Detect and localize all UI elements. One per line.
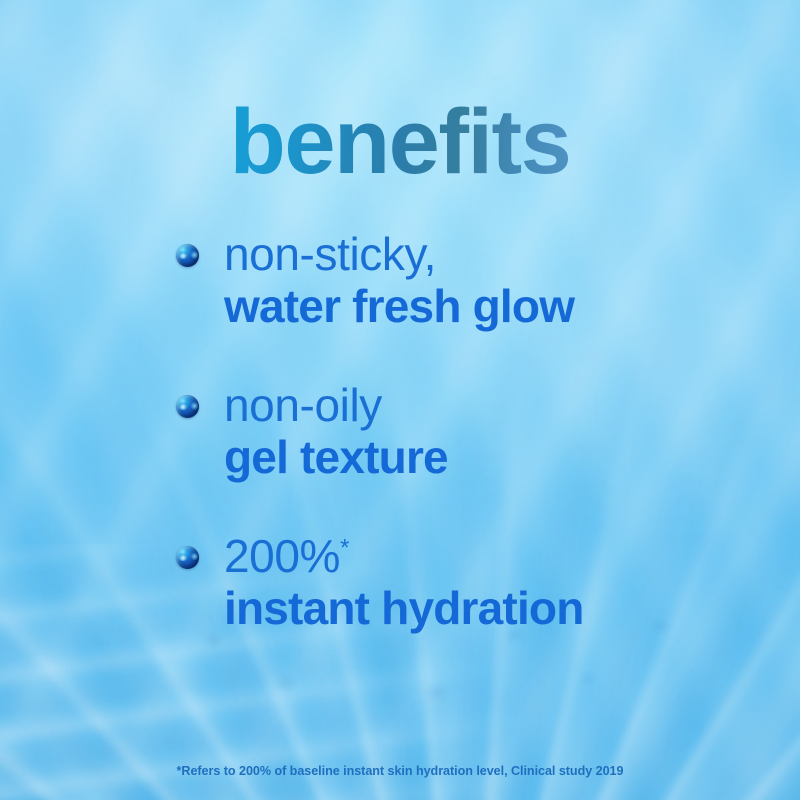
blue-gem-bullet-icon: [176, 395, 199, 418]
list-item: 200%* instant hydration: [172, 530, 732, 635]
footnote-disclaimer: *Refers to 200% of baseline instant skin…: [0, 764, 800, 778]
list-item-line-bold: instant hydration: [224, 582, 732, 634]
list-item-line-bold: water fresh glow: [224, 280, 732, 332]
page-title: benefits: [0, 96, 800, 188]
list-item-line-light: non-oily: [224, 379, 732, 431]
blue-gem-bullet-icon: [176, 244, 199, 267]
page-title-text: benefits: [230, 91, 571, 193]
benefits-list: non-sticky, water fresh glow non-oily ge…: [172, 228, 732, 635]
list-item-text: non-oily gel texture: [172, 379, 732, 484]
list-item-line-light: 200%*: [224, 530, 732, 582]
list-item: non-oily gel texture: [172, 379, 732, 484]
list-item: non-sticky, water fresh glow: [172, 228, 732, 333]
hydration-percent-value: 200%: [224, 530, 340, 582]
list-item-line-light: non-sticky,: [224, 228, 732, 280]
list-item-line-bold: gel texture: [224, 431, 732, 483]
blue-gem-bullet-icon: [176, 546, 199, 569]
promo-graphic: benefits non-sticky, water fresh glow no…: [0, 0, 800, 800]
list-item-text: 200%* instant hydration: [172, 530, 732, 635]
list-item-text: non-sticky, water fresh glow: [172, 228, 732, 333]
footnote-asterisk-marker: *: [340, 534, 349, 561]
